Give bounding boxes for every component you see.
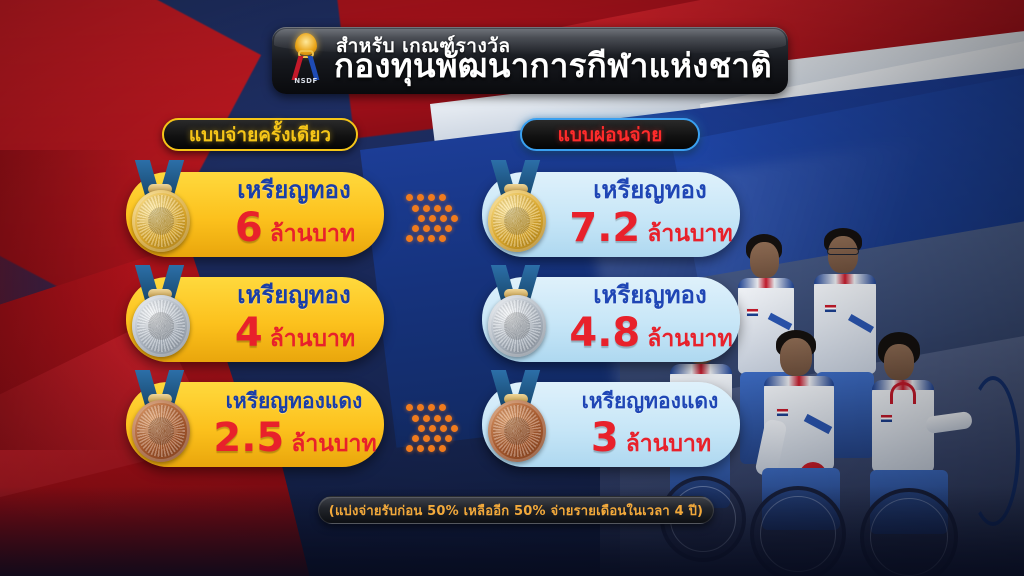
amount-unit: ล้านบาท (647, 328, 732, 351)
medal-disc (488, 295, 546, 357)
column-header-installment-payment: แบบผ่อนจ่าย (520, 118, 700, 151)
gold-medal (466, 164, 566, 264)
gold-medal (110, 164, 210, 264)
medal-disc (132, 295, 190, 357)
amount-value: 3 (591, 418, 619, 458)
card-gold-one-time: เหรียญทอง 6 ล้านบาท (126, 172, 384, 257)
medal-disc (488, 400, 546, 462)
arrow-right-icon-row-1 (404, 188, 460, 244)
nsdf-logo: NSDF (286, 33, 326, 87)
amount-value: 4.8 (569, 313, 640, 353)
amount-unit: ล้านบาท (270, 223, 355, 246)
medal-label: เหรียญทอง (574, 178, 726, 203)
header-banner: NSDF สำหรับ เกณฑ์รางวัล กองทุนพัฒนาการกี… (272, 27, 788, 94)
amount-group: 2.5 ล้านบาท (218, 418, 372, 458)
silver-medal (466, 269, 566, 369)
bronze-medal (466, 374, 566, 474)
medal-label: เหรียญทองแดง (574, 390, 726, 412)
amount-unit: ล้านบาท (291, 433, 376, 456)
page-title: กองทุนพัฒนาการกีฬาแห่งชาติ (334, 49, 772, 82)
footnote-payment-terms: (แบ่งจ่ายรับก่อน 50% เหลืออีก 50% จ่ายรา… (318, 496, 714, 524)
neck-medal-ribbon (890, 382, 916, 404)
arrow-right-icon-row-3 (404, 398, 460, 454)
amount-value: 4 (235, 313, 263, 353)
nsdf-logo-text: NSDF (286, 77, 326, 85)
amount-unit: ล้านบาท (647, 223, 732, 246)
amount-value: 6 (235, 208, 263, 248)
medal-label: เหรียญทอง (218, 283, 370, 308)
medal-label: เหรียญทองแดง (218, 390, 370, 412)
amount-value: 2.5 (213, 418, 284, 458)
medal-disc (488, 190, 546, 252)
amount-group: 6 ล้านบาท (218, 208, 372, 248)
infographic-stage: NSDF สำหรับ เกณฑ์รางวัล กองทุนพัฒนาการกี… (0, 0, 1024, 576)
card-silver-installment: เหรียญทอง 4.8 ล้านบาท (482, 277, 740, 362)
amount-group: 7.2 ล้านบาท (574, 208, 728, 248)
medal-label: เหรียญทอง (218, 178, 370, 203)
medal-disc (132, 190, 190, 252)
silver-medal (110, 269, 210, 369)
amount-unit: ล้านบาท (626, 433, 711, 456)
card-silver-one-time: เหรียญทอง 4 ล้านบาท (126, 277, 384, 362)
bronze-medal (110, 374, 210, 474)
medal-label: เหรียญทอง (574, 283, 726, 308)
medal-disc (132, 400, 190, 462)
amount-value: 7.2 (569, 208, 640, 248)
card-bronze-one-time: เหรียญทองแดง 2.5 ล้านบาท (126, 382, 384, 467)
column-header-one-time-payment: แบบจ่ายครั้งเดียว (162, 118, 358, 151)
card-bronze-installment: เหรียญทองแดง 3 ล้านบาท (482, 382, 740, 467)
amount-group: 4.8 ล้านบาท (574, 313, 728, 353)
amount-group: 3 ล้านบาท (574, 418, 728, 458)
amount-group: 4 ล้านบาท (218, 313, 372, 353)
card-gold-installment: เหรียญทอง 7.2 ล้านบาท (482, 172, 740, 257)
glasses-icon (827, 248, 859, 255)
amount-unit: ล้านบาท (270, 328, 355, 351)
